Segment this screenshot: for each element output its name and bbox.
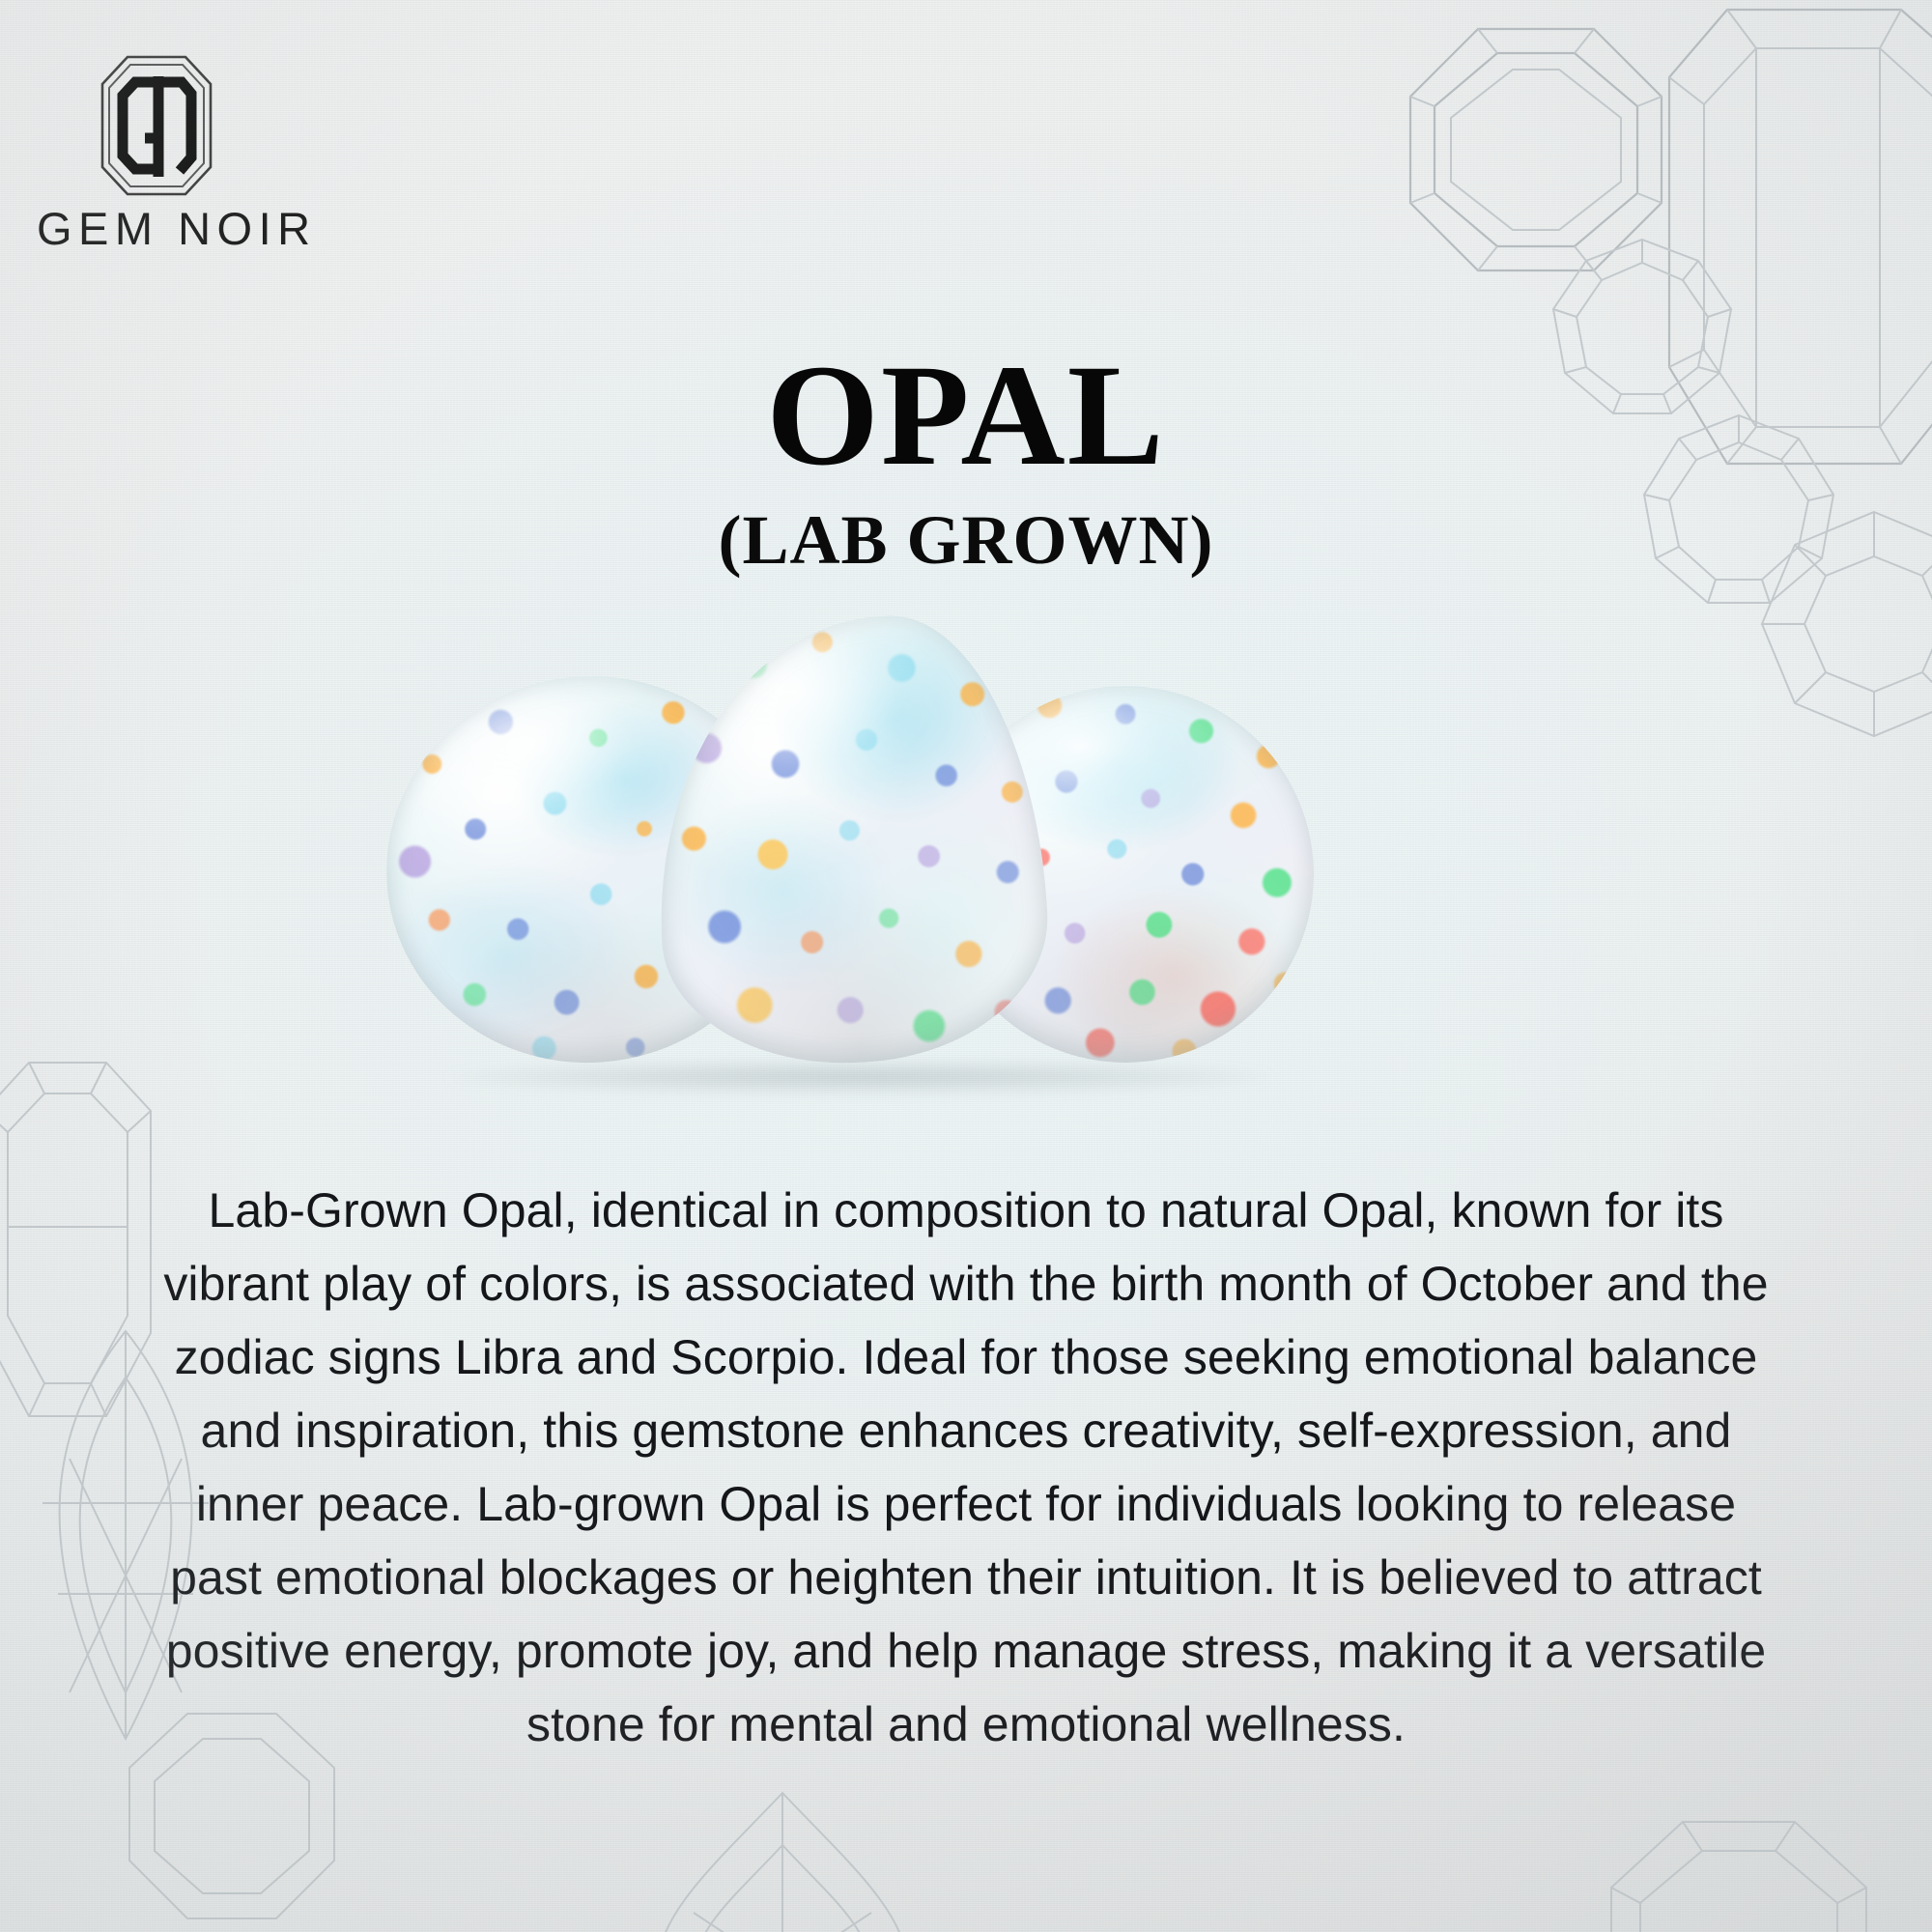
octagon-step-cut-gem-outline <box>1391 10 1681 299</box>
brand-logo-block: GEM NOIR <box>35 53 325 255</box>
page-subtitle: (LAB GROWN) <box>0 505 1932 575</box>
title-area: OPAL (LAB GROWN) <box>0 343 1932 575</box>
page-title: OPAL <box>0 343 1932 488</box>
gemstone-group <box>386 618 1546 1121</box>
octagon-gem-outline-bottom <box>1594 1806 1884 1932</box>
gem-noir-gn-monogram-icon <box>99 53 214 198</box>
poster-canvas: GEM NOIR OPAL (LAB GROWN) Lab-Grown Opal <box>0 0 1932 1932</box>
pear-cut-gem-outline <box>618 1777 947 1932</box>
brand-wordmark: GEM NOIR <box>35 202 325 255</box>
product-description: Lab-Grown Opal, identical in composition… <box>145 1174 1787 1761</box>
opal-pear-cabochon <box>645 609 1055 1072</box>
